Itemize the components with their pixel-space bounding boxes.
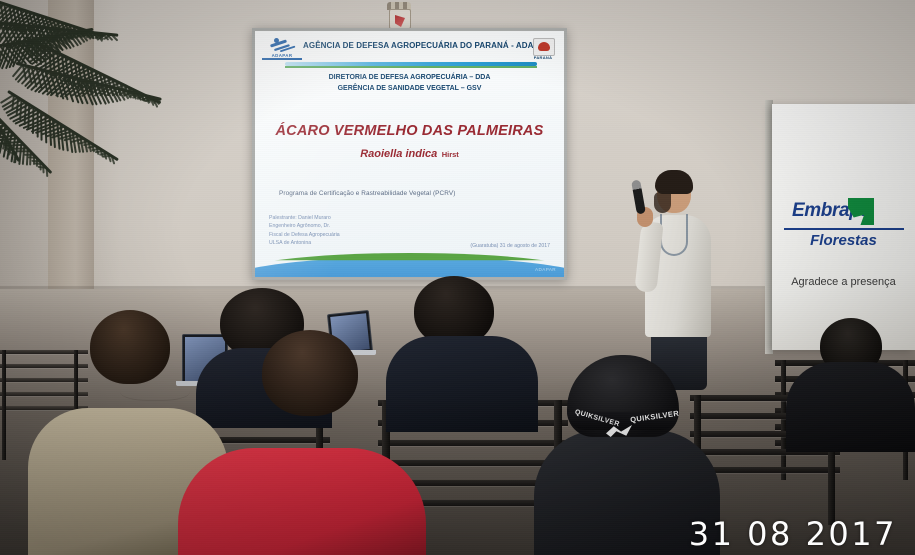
slide-header: ADAPAR AGÊNCIA DE DEFESA AGROPECUÁRIA DO…: [255, 37, 564, 63]
slide-place-date: (Guaratuba) 31 de agosto de 2017: [470, 243, 550, 249]
banner-tagline: Agradece a presença: [772, 276, 915, 288]
slide-subtitle-line2: GERÊNCIA DE SANIDADE VEGETAL – GSV: [255, 84, 564, 95]
presenter-lanyard: [660, 214, 688, 256]
speaker-unit: ULSA de Antonina: [269, 239, 340, 247]
slide-footer-mark: ADAPAR: [535, 267, 556, 272]
palm-plant: [0, 0, 230, 220]
parana-logo-label: PARANÁ: [528, 55, 558, 60]
slide-main-title: ÁCARO VERMELHO DAS PALMEIRAS: [255, 123, 564, 139]
speaker-role: Fiscal de Defesa Agropecuária: [269, 231, 340, 239]
embrapa-logo: Embrapa: [792, 198, 902, 226]
presenter-hair: [655, 170, 693, 194]
slide-species-line: Raoiella indica Hirst: [255, 144, 564, 162]
slide-footer-band: ADAPAR: [255, 251, 564, 277]
projection-screen: ADAPAR AGÊNCIA DE DEFESA AGROPECUÁRIA DO…: [252, 28, 567, 280]
presentation-slide: ADAPAR AGÊNCIA DE DEFESA AGROPECUÁRIA DO…: [255, 31, 564, 277]
slide-subtitle: DIRETORIA DE DEFESA AGROPECUÁRIA – DDA G…: [255, 73, 564, 95]
slide-org-title: AGÊNCIA DE DEFESA AGROPECUÁRIA DO PARANÁ…: [303, 41, 523, 50]
slide-program-text: Programa de Certificação e Rastreabilida…: [279, 190, 539, 197]
parana-emblem-icon: PARANÁ: [528, 37, 558, 63]
banner-divider: [784, 228, 904, 230]
slide-species-author: Hirst: [442, 150, 459, 159]
presenter-beard: [654, 192, 671, 213]
slide-speaker-block: Palestrante: Daniel Muraro Engenheiro Ag…: [269, 214, 340, 248]
embrapa-unit-label: Florestas: [772, 232, 915, 249]
camera-timestamp: 31 08 2017: [689, 515, 897, 553]
embrapa-banner: Embrapa Florestas Agradece a presença: [772, 104, 915, 350]
adapar-logo-icon: ADAPAR: [262, 37, 302, 63]
photograph: ADAPAR AGÊNCIA DE DEFESA AGROPECUÁRIA DO…: [0, 0, 915, 555]
slide-species-name: Raoiella indica: [360, 148, 437, 160]
speaker-name: Palestrante: Daniel Muraro: [269, 214, 340, 222]
slide-divider-green: [285, 66, 537, 68]
speaker-title: Engenheiro Agrônomo, Dr.: [269, 222, 340, 230]
slide-subtitle-line1: DIRETORIA DE DEFESA AGROPECUÁRIA – DDA: [255, 73, 564, 84]
